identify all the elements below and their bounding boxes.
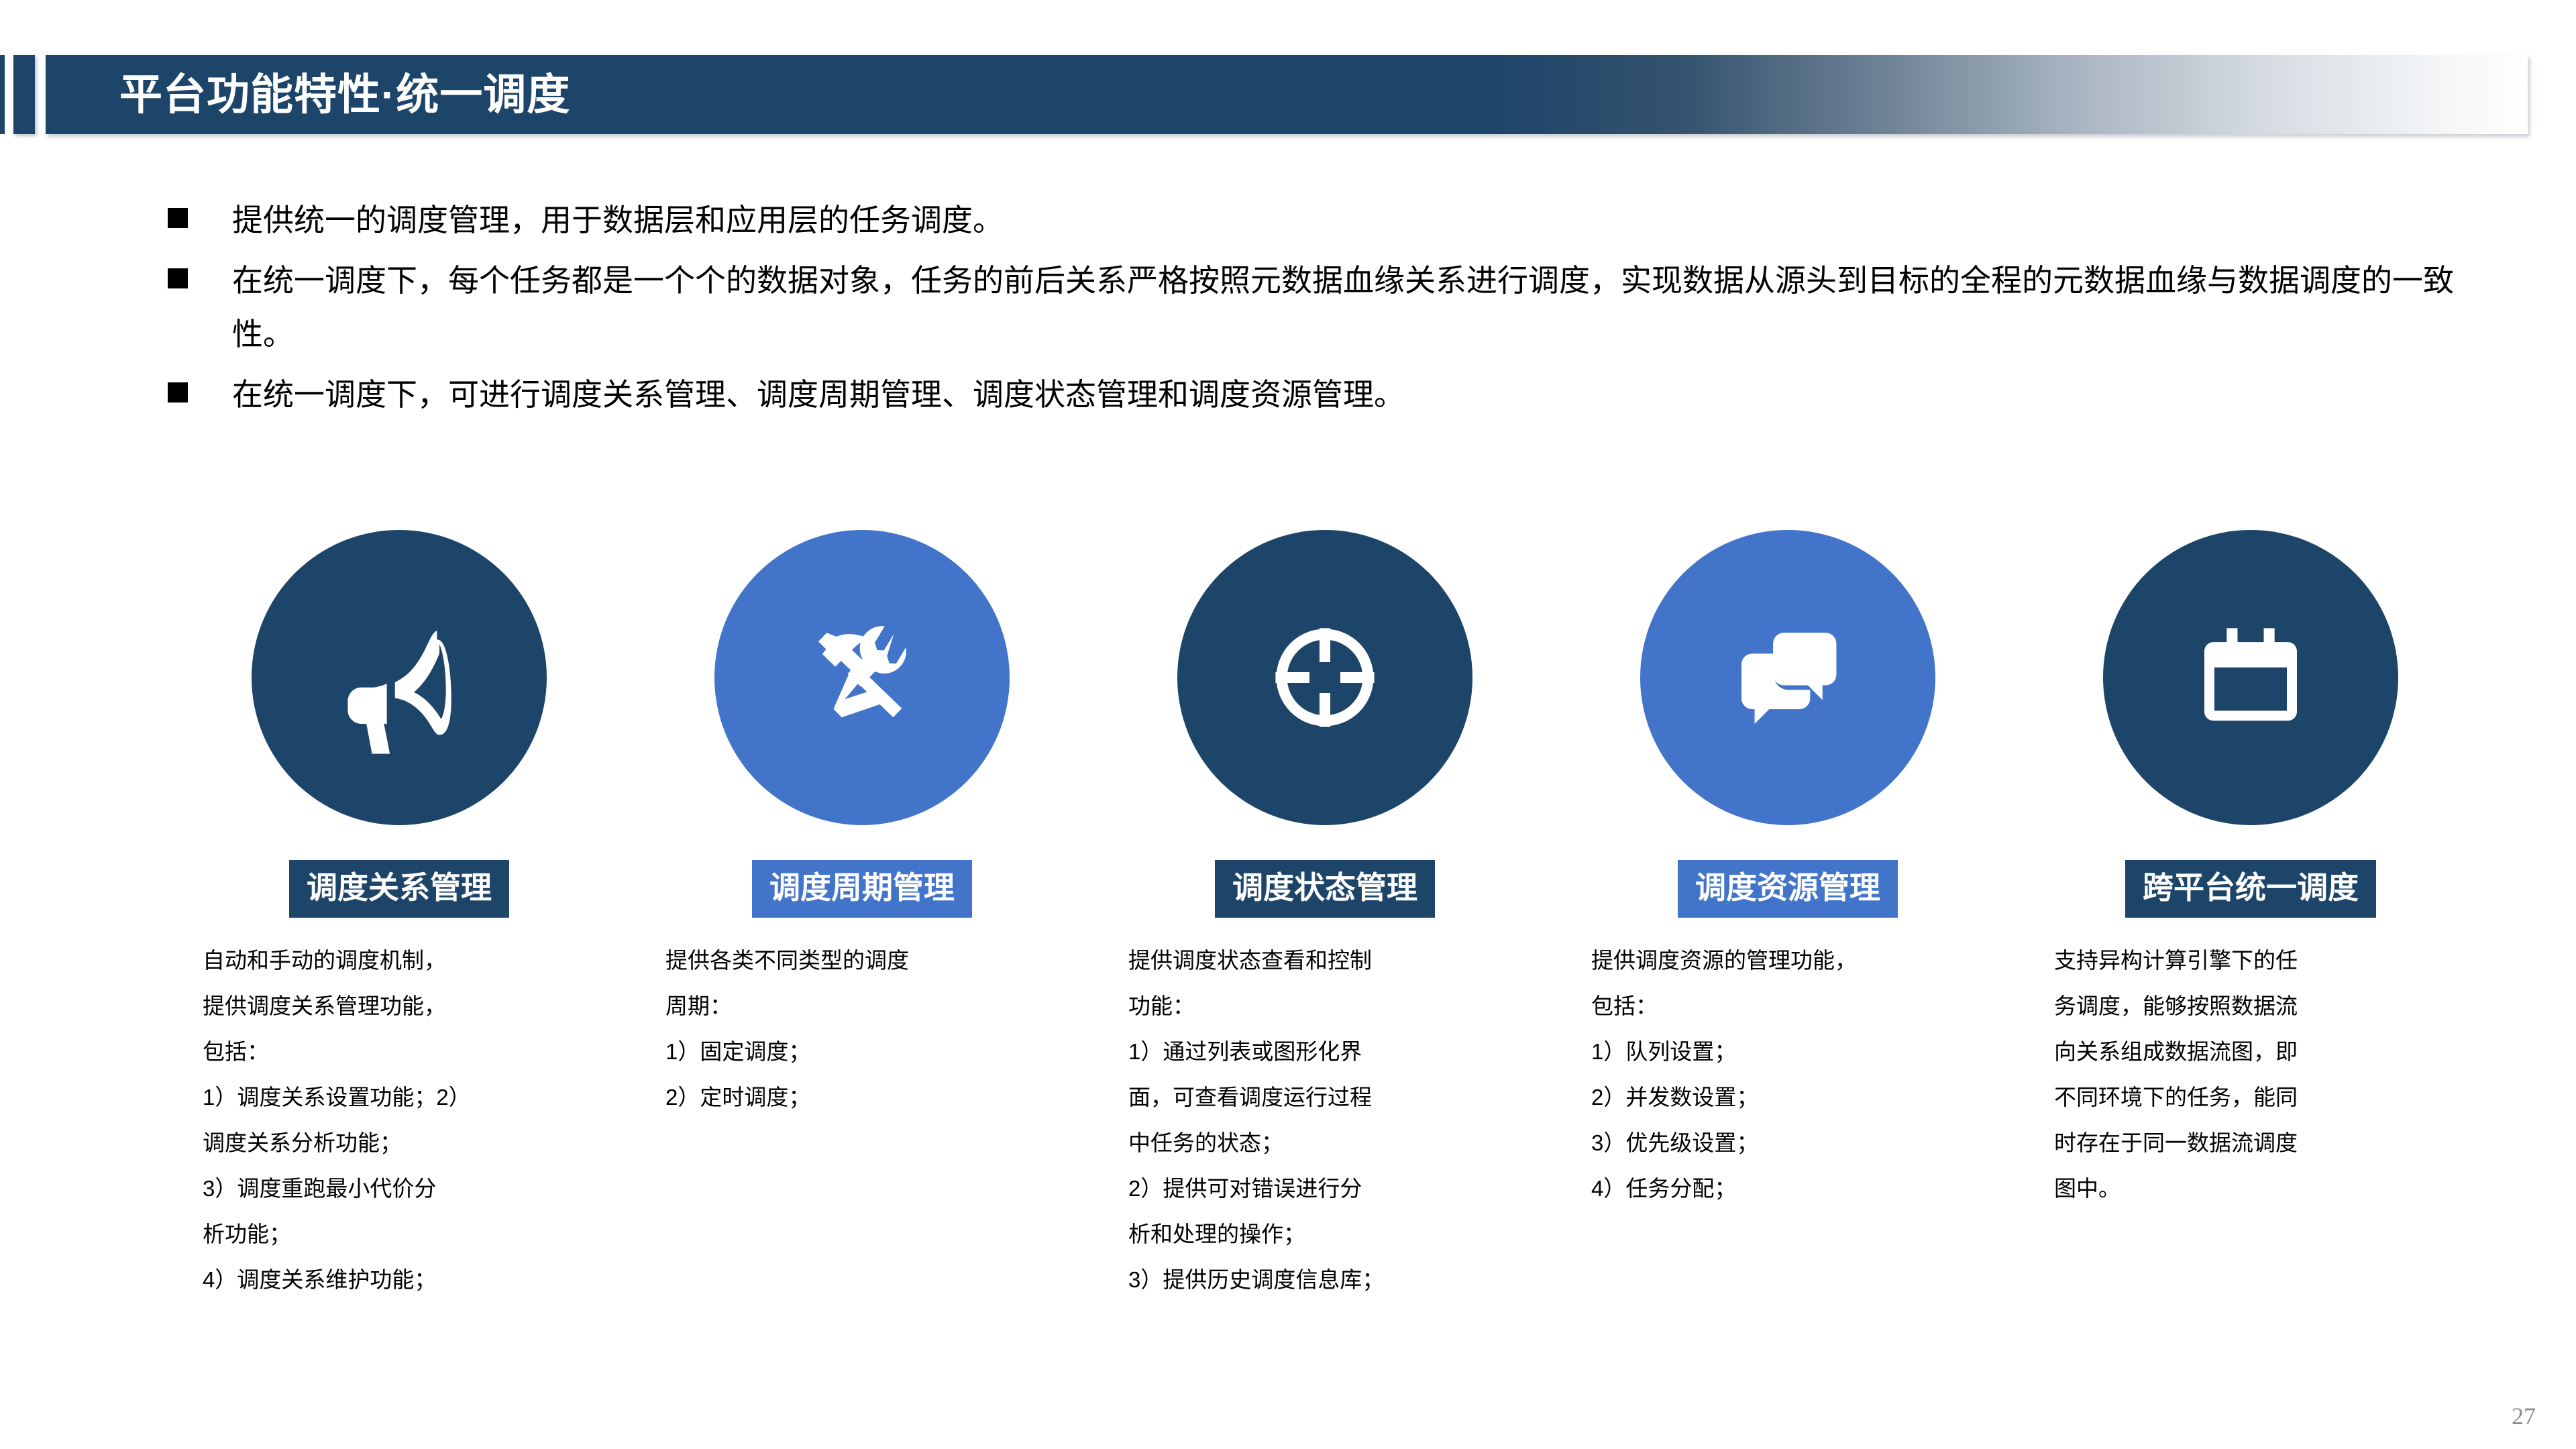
slide-title-bar: 平台功能特性·统一调度 [0,48,2576,134]
page-number: 27 [2512,1402,2536,1430]
card-body-line: 提供调度关系管理功能， [203,983,614,1029]
card-body: 自动和手动的调度机制， 提供调度关系管理功能， 包括： 1）调度关系设置功能；2… [168,938,631,1303]
card-body-line: 2）提供可对错误进行分 [1128,1166,1540,1212]
card-body-line: 不同环境下的任务，能同 [2054,1075,2466,1120]
card-body-line: 自动和手动的调度机制， [203,938,614,983]
title-accent-thin-bar [0,55,5,134]
calendar-icon [2173,600,2328,755]
feature-card-row: 调度关系管理 自动和手动的调度机制， 提供调度关系管理功能， 包括： 1）调度关… [168,510,2482,1303]
card-banner-wrap: 调度关系管理 [168,860,631,918]
card-icon-area [1556,510,2019,845]
card-body-line: 1）通过列表或图形化界 [1128,1029,1540,1075]
chat-bubbles-icon [1711,600,1865,755]
card-body-line: 调度关系分析功能； [203,1120,614,1166]
page-title: 平台功能特性·统一调度 [119,64,570,125]
square-bullet-icon [168,208,188,228]
card-body-line: 务调度，能够按照数据流 [2054,983,2466,1029]
card-body: 提供各类不同类型的调度 周期： 1）固定调度； 2）定时调度； [631,938,1093,1120]
card-body-line: 4）调度关系维护功能； [203,1257,614,1303]
card-body-line: 3）调度重跑最小代价分 [203,1166,614,1212]
card-body-line: 周期： [665,983,1077,1029]
bullet-item: 在统一调度下，可进行调度关系管理、调度周期管理、调度状态管理和调度资源管理。 [168,368,2469,421]
card-body-line: 向关系组成数据流图，即 [2054,1029,2466,1075]
card-icon-area [168,510,631,845]
bullet-text: 在统一调度下，每个任务都是一个个的数据对象，任务的前后关系严格按照元数据血缘关系… [232,254,2469,361]
card-body-line: 支持异构计算引擎下的任 [2054,938,2466,983]
card-title-banner: 调度状态管理 [1215,860,1435,918]
bullet-list: 提供统一的调度管理，用于数据层和应用层的任务调度。 在统一调度下，每个任务都是一… [168,193,2469,428]
title-panel: 平台功能特性·统一调度 [46,55,2528,134]
card-body-line: 图中。 [2054,1166,2466,1212]
card-body-line: 4）任务分配； [1591,1166,2003,1212]
hammer-wrench-icon [785,600,939,755]
feature-card-cross-platform: 跨平台统一调度 支持异构计算引擎下的任 务调度，能够按照数据流 向关系组成数据流… [2019,510,2482,1303]
card-body-line: 2）并发数设置； [1591,1075,2003,1120]
feature-card-scheduling-resource: 调度资源管理 提供调度资源的管理功能， 包括： 1）队列设置； 2）并发数设置；… [1556,510,2019,1303]
card-body-line: 功能： [1128,983,1540,1029]
icon-circle [2103,530,2398,825]
bullet-item: 在统一调度下，每个任务都是一个个的数据对象，任务的前后关系严格按照元数据血缘关系… [168,254,2469,361]
card-icon-area [2019,510,2482,845]
title-accent-thick-bar [13,55,35,134]
feature-card-scheduling-status: 调度状态管理 提供调度状态查看和控制 功能： 1）通过列表或图形化界 面，可查看… [1093,510,1556,1303]
card-body-line: 析功能； [203,1212,614,1257]
card-body-line: 2）定时调度； [665,1075,1077,1120]
card-icon-area [1093,510,1556,845]
card-body-line: 提供各类不同类型的调度 [665,938,1077,983]
card-body: 提供调度状态查看和控制 功能： 1）通过列表或图形化界 面，可查看调度运行过程 … [1093,938,1556,1303]
card-banner-wrap: 调度资源管理 [1556,860,2019,918]
megaphone-icon [322,600,476,755]
card-body-line: 3）优先级设置； [1591,1120,2003,1166]
card-banner-wrap: 跨平台统一调度 [2019,860,2482,918]
square-bullet-icon [168,268,188,288]
card-body-line: 时存在于同一数据流调度 [2054,1120,2466,1166]
card-banner-wrap: 调度周期管理 [631,860,1093,918]
card-body: 提供调度资源的管理功能， 包括： 1）队列设置； 2）并发数设置； 3）优先级设… [1556,938,2019,1212]
crosshair-target-icon [1248,600,1402,755]
icon-circle [1640,530,1935,825]
card-body-line: 提供调度资源的管理功能， [1591,938,2003,983]
card-body-line: 析和处理的操作； [1128,1212,1540,1257]
feature-card-scheduling-cycle: 调度周期管理 提供各类不同类型的调度 周期： 1）固定调度； 2）定时调度； [631,510,1093,1303]
card-body-line: 3）提供历史调度信息库； [1128,1257,1540,1303]
card-body-line: 面，可查看调度运行过程 [1128,1075,1540,1120]
card-body-line: 包括： [1591,983,2003,1029]
icon-circle [252,530,547,825]
feature-card-scheduling-relation: 调度关系管理 自动和手动的调度机制， 提供调度关系管理功能， 包括： 1）调度关… [168,510,631,1303]
card-body-line: 包括： [203,1029,614,1075]
card-title-banner: 跨平台统一调度 [2125,860,2376,918]
card-title-banner: 调度周期管理 [752,860,972,918]
bullet-text: 在统一调度下，可进行调度关系管理、调度周期管理、调度状态管理和调度资源管理。 [232,368,2469,421]
bullet-item: 提供统一的调度管理，用于数据层和应用层的任务调度。 [168,193,2469,247]
card-body: 支持异构计算引擎下的任 务调度，能够按照数据流 向关系组成数据流图，即 不同环境… [2019,938,2482,1212]
card-body-line: 1）队列设置； [1591,1029,2003,1075]
card-body-line: 中任务的状态； [1128,1120,1540,1166]
card-body-line: 1）固定调度； [665,1029,1077,1075]
card-title-banner: 调度资源管理 [1678,860,1898,918]
square-bullet-icon [168,382,188,402]
card-body-line: 1）调度关系设置功能；2） [203,1075,614,1120]
card-icon-area [631,510,1093,845]
card-body-line: 提供调度状态查看和控制 [1128,938,1540,983]
icon-circle [1177,530,1472,825]
card-banner-wrap: 调度状态管理 [1093,860,1556,918]
bullet-text: 提供统一的调度管理，用于数据层和应用层的任务调度。 [232,193,2469,247]
icon-circle [714,530,1010,825]
card-title-banner: 调度关系管理 [289,860,509,918]
